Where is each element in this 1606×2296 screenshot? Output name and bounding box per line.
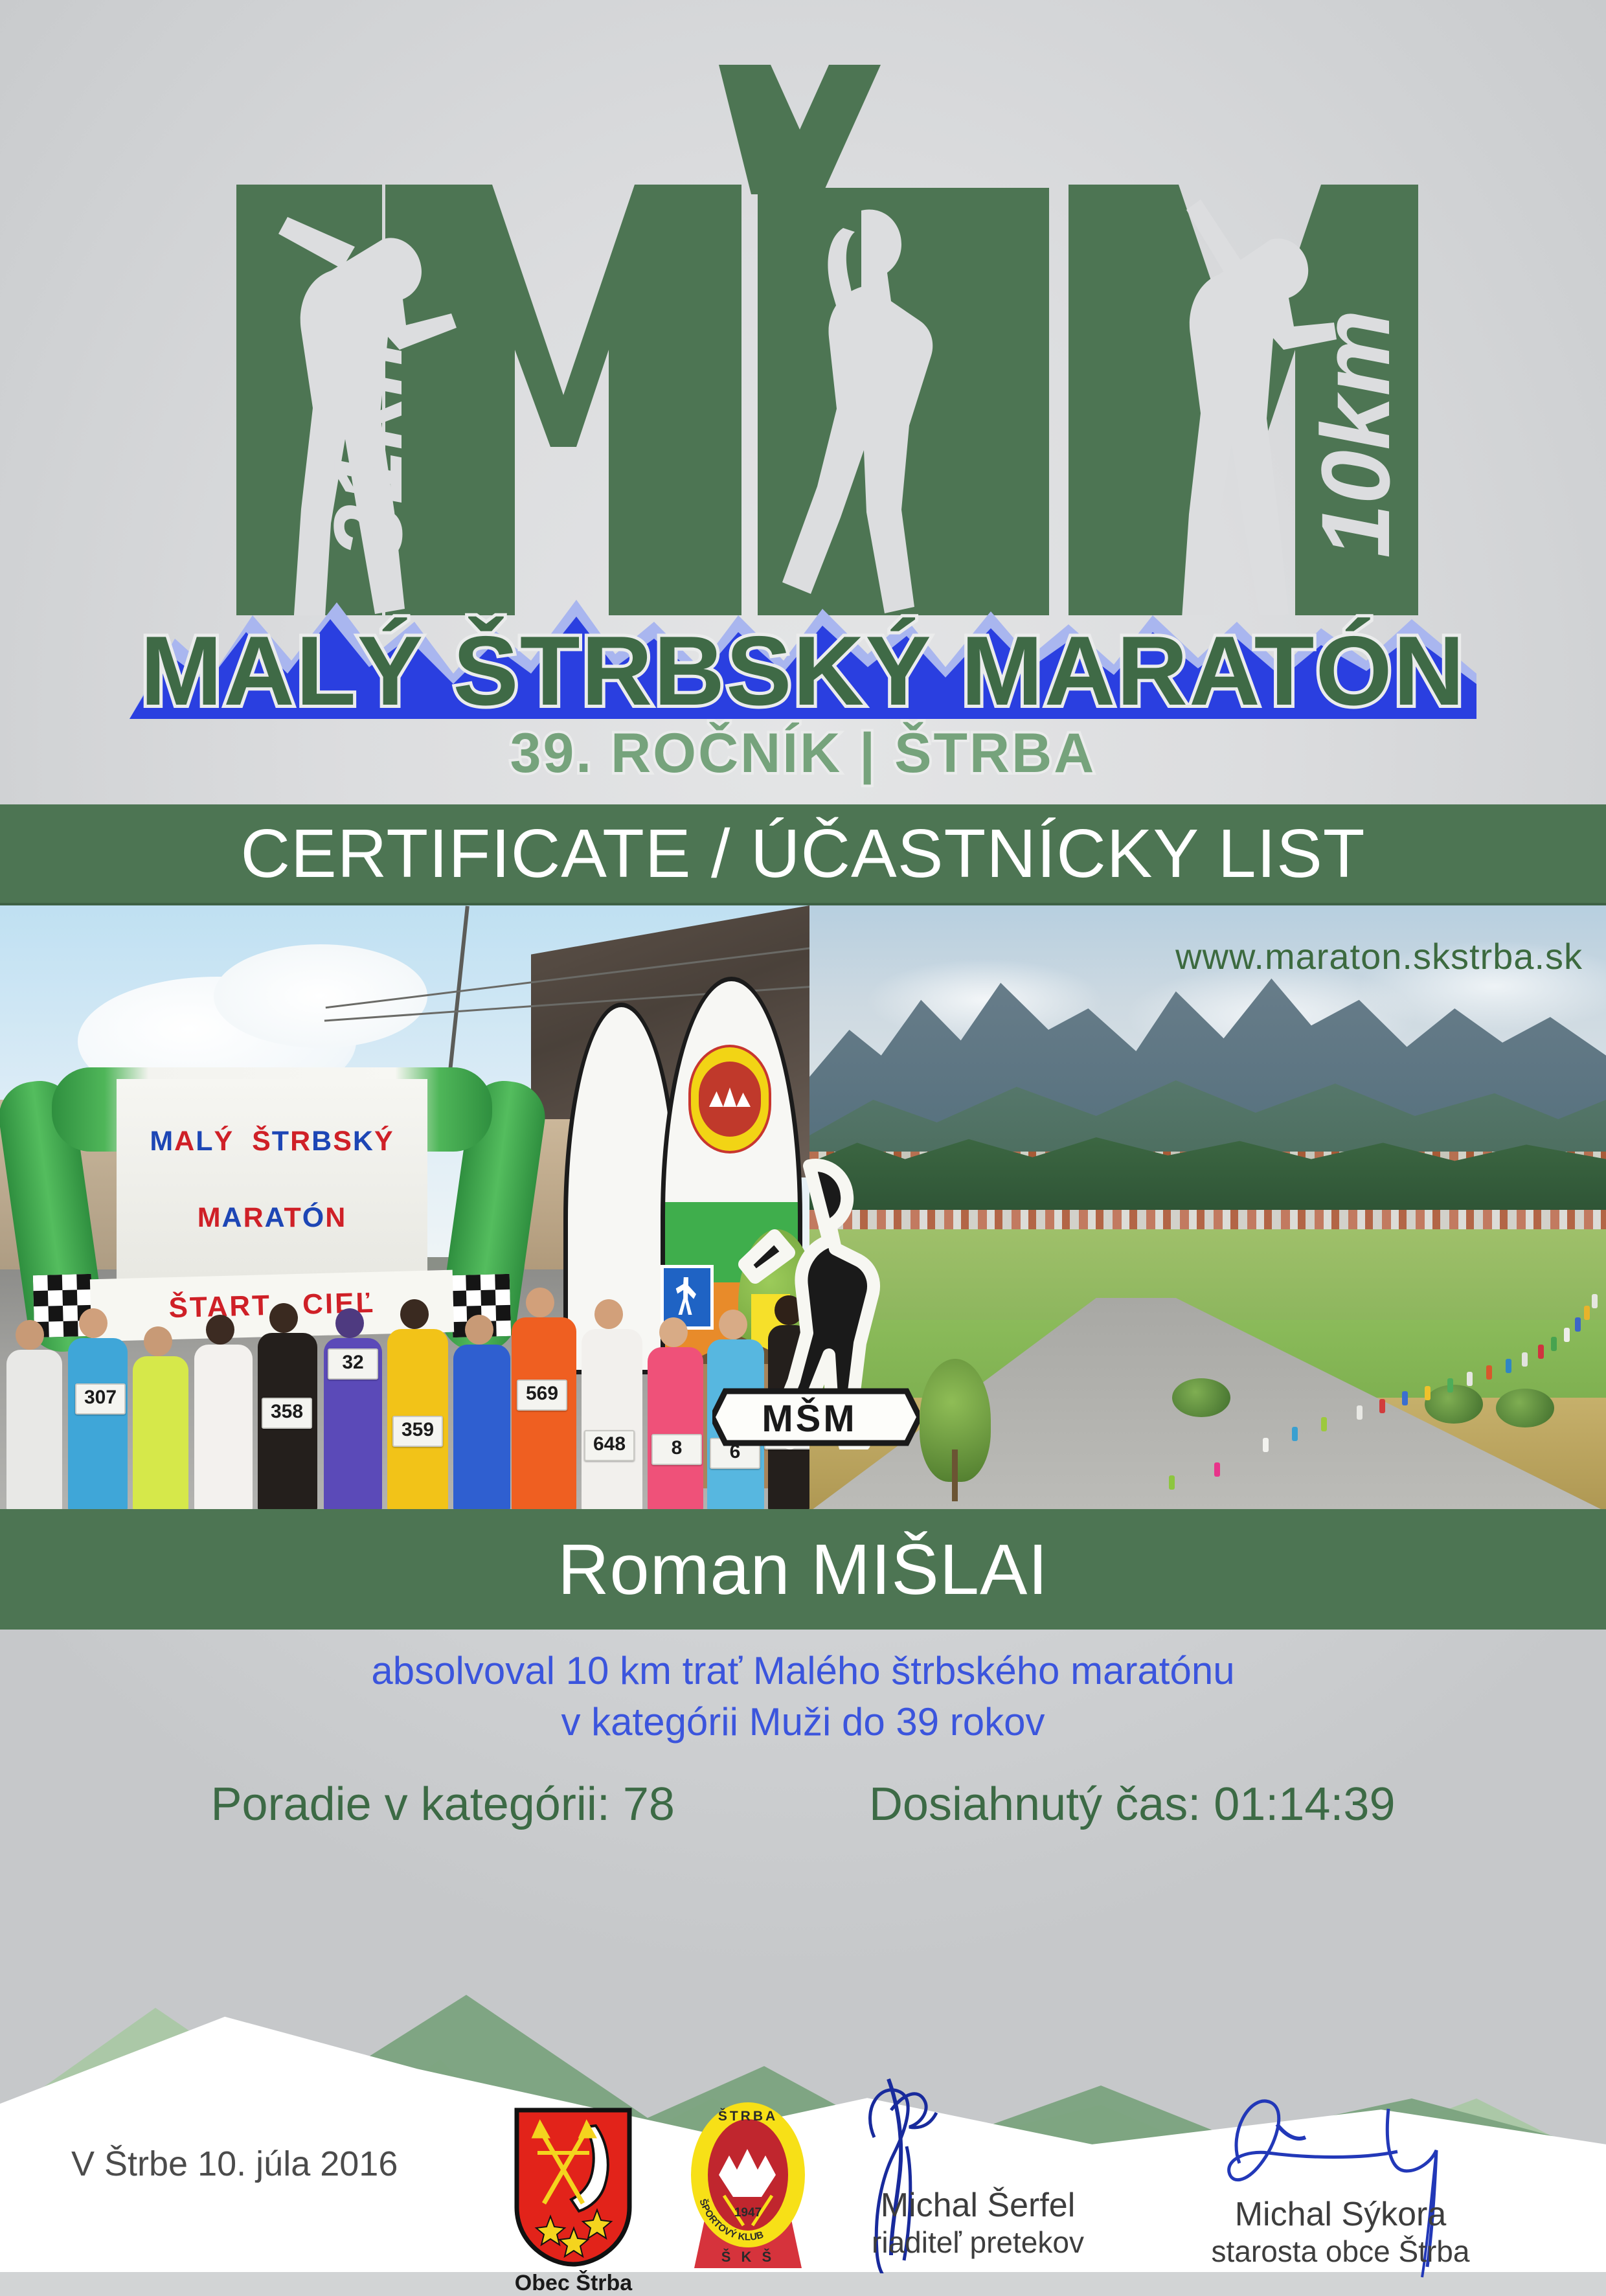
signature-block-director: Michal Šerfel riaditeľ pretekov xyxy=(797,2187,1159,2260)
description-line-2: v kategórii Muži do 39 rokov xyxy=(0,1696,1606,1747)
msm-runner-stencil-icon: MŠM xyxy=(712,1152,920,1449)
participant-name: Roman MIŠLAI xyxy=(558,1529,1048,1611)
runner-bib: 648 xyxy=(584,1430,635,1461)
arch-line1: MALÝ ŠTRBSKÝ xyxy=(117,1126,427,1157)
runner-bib: 8 xyxy=(651,1434,702,1465)
sks-year: 1947 xyxy=(734,2206,762,2220)
distance-31km-label: 31km xyxy=(313,310,422,558)
certificate-page: 31km 10km MALÝ ŠTRBSKÝ MARATÓN 39. ROČNÍ… xyxy=(0,0,1606,2272)
sks-bottom-text: Š K Š xyxy=(721,2249,775,2265)
signature-name: Michal Šerfel xyxy=(797,2187,1159,2225)
category-rank: Poradie v kategórii: 78 xyxy=(211,1778,675,1831)
participant-name-banner: Roman MIŠLAI xyxy=(0,1509,1606,1630)
tree xyxy=(920,1359,991,1482)
website-url[interactable]: www.maraton.skstrba.sk xyxy=(1175,935,1583,977)
results-row: Poradie v kategórii: 78 Dosiahnutý čas: … xyxy=(0,1778,1606,1831)
footer: V Štrbe 10. júla 2016 Obec Štrba xyxy=(0,2066,1606,2272)
finish-time: Dosiahnutý čas: 01:14:39 xyxy=(869,1778,1396,1831)
bush xyxy=(1172,1378,1230,1417)
photo-start-line: MALÝ ŠTRBSKÝ MARATÓN ŠTART - CIEĽ xyxy=(0,905,809,1512)
obec-strba-coat-of-arms-icon xyxy=(512,2106,635,2268)
signature-role: riaditeľ pretekov xyxy=(797,2225,1159,2260)
signature-name: Michal Sýkora xyxy=(1159,2196,1522,2234)
event-logo: 31km 10km MALÝ ŠTRBSKÝ MARATÓN 39. ROČNÍ… xyxy=(0,39,1606,784)
msm-stencil-wordmark: MŠM xyxy=(712,1391,920,1443)
bush xyxy=(1425,1385,1483,1424)
distance-10km-label: 10km xyxy=(1301,310,1410,558)
runner-bib: 359 xyxy=(392,1416,443,1447)
finish-time-label: Dosiahnutý čas: xyxy=(869,1779,1201,1830)
runner-bib: 307 xyxy=(75,1383,126,1415)
caron-accent xyxy=(719,65,881,194)
certificate-title-text: CERTIFICATE / ÚČASTNÍCKY LIST xyxy=(240,815,1365,893)
runner-bib: 358 xyxy=(262,1398,312,1429)
runner-crowd: 307 358 32 359 569 648 8 6 360 xyxy=(0,1201,809,1512)
certificate-title-banner: CERTIFICATE / ÚČASTNÍCKY LIST xyxy=(0,804,1606,903)
signature-block-mayor: Michal Sýkora starosta obce Štrba xyxy=(1159,2196,1522,2269)
description-line-1: absolvoval 10 km trať Malého štrbského m… xyxy=(0,1645,1606,1696)
runner-bib: 569 xyxy=(517,1380,567,1411)
photo-strip: MALÝ ŠTRBSKÝ MARATÓN ŠTART - CIEĽ xyxy=(0,903,1606,1514)
svg-text:MŠM: MŠM xyxy=(762,1398,857,1440)
signature-role: starosta obce Štrba xyxy=(1159,2234,1522,2269)
bush xyxy=(1496,1389,1554,1427)
sks-club-emblem-icon: ŠTRBA 1947 Š K Š ŠPORTOVÝ KLUB xyxy=(686,2098,809,2273)
msm-letters-graphic: 31km 10km xyxy=(188,45,1418,615)
sks-top-text: ŠTRBA xyxy=(718,2108,778,2124)
issue-date: V Štrbe 10. júla 2016 xyxy=(71,2144,398,2184)
category-rank-value: 78 xyxy=(623,1779,675,1830)
finish-time-value: 01:14:39 xyxy=(1214,1779,1395,1830)
race-title: MALÝ ŠTRBSKÝ MARATÓN xyxy=(0,622,1606,720)
runner-bib: 32 xyxy=(328,1348,378,1380)
category-rank-label: Poradie v kategórii: xyxy=(211,1779,610,1830)
sks-club-badge-icon xyxy=(688,1045,771,1154)
race-subtitle: 39. ROČNÍK | ŠTRBA xyxy=(0,725,1606,781)
photo-course-landscape: www.maraton.skstrba.sk xyxy=(809,905,1606,1512)
obec-strba-label: Obec Štrba xyxy=(504,2271,643,2296)
participation-description: absolvoval 10 km trať Malého štrbského m… xyxy=(0,1645,1606,1747)
